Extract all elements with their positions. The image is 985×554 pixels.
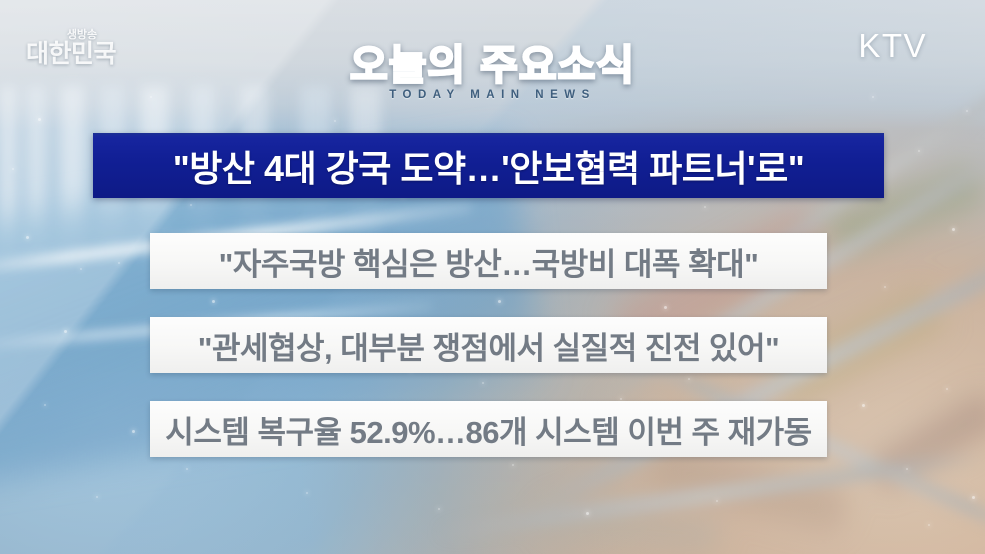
headline-banner-3: 시스템 복구율 52.9%…86개 시스템 이번 주 재가동 <box>150 401 827 457</box>
main-headline-banner: "방산 4대 강국 도약…'안보협력 파트너'로" <box>93 133 884 198</box>
program-title-korean-part2: 주요소식 <box>480 42 635 88</box>
main-headline-text: "방산 4대 강국 도약…'안보협력 파트너'로" <box>173 140 805 192</box>
broadcast-frame: 생방송 대한민국 KTV 오늘의주요소식 TODAY MAIN NEWS "방산… <box>0 0 985 554</box>
headline-text-1: "자주국방 핵심은 방산…국방비 대폭 확대" <box>219 239 759 284</box>
headline-text-2: "관세협상, 대부분 쟁점에서 실질적 진전 있어" <box>198 323 779 368</box>
program-title-korean-part1: 오늘의 <box>350 42 466 88</box>
headline-banner-2: "관세협상, 대부분 쟁점에서 실질적 진전 있어" <box>150 317 827 373</box>
headline-text-3: 시스템 복구율 52.9%…86개 시스템 이번 주 재가동 <box>165 407 811 452</box>
program-title-korean: 오늘의주요소식 <box>350 44 635 87</box>
program-title-english: TODAY MAIN NEWS <box>0 89 985 101</box>
headline-banner-1: "자주국방 핵심은 방산…국방비 대폭 확대" <box>150 233 827 289</box>
program-title-block: 오늘의주요소식 TODAY MAIN NEWS <box>0 44 985 101</box>
